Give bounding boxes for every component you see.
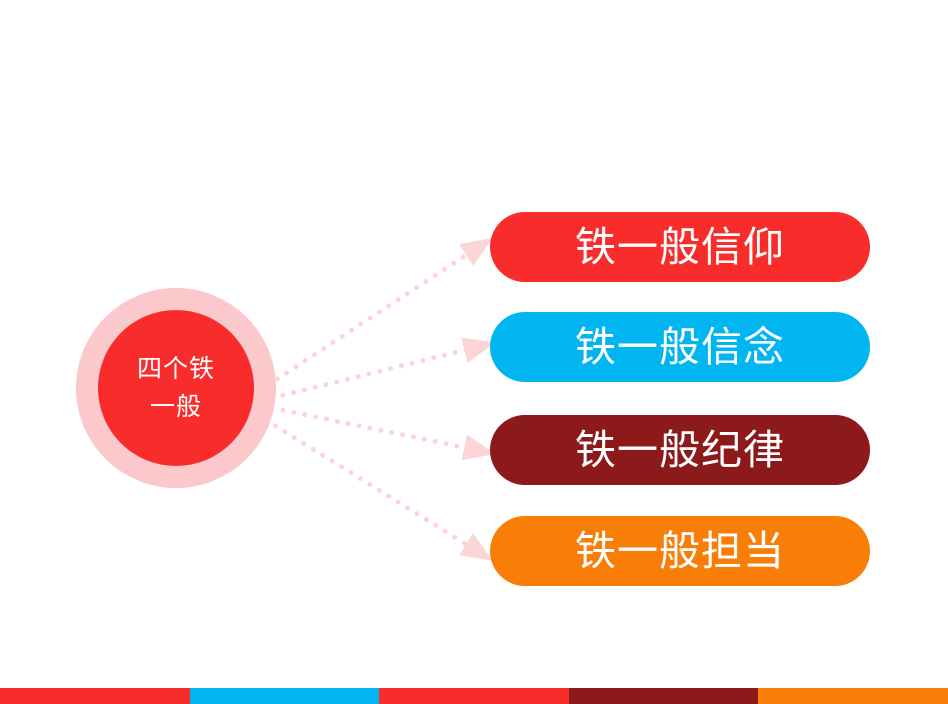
connector-line-3 bbox=[272, 408, 477, 450]
hub-core-circle: 四个铁 一般 bbox=[98, 310, 254, 466]
footer-segment-3 bbox=[379, 688, 569, 704]
item-pill-1-label: 铁一般信仰 bbox=[575, 225, 785, 269]
hub-label-line2: 一般 bbox=[150, 388, 202, 426]
footer-segment-5 bbox=[758, 688, 948, 704]
footer-segment-1 bbox=[0, 688, 190, 704]
item-pill-4-label: 铁一般担当 bbox=[575, 529, 785, 573]
footer-color-bar bbox=[0, 688, 948, 704]
item-pill-3-label: 铁一般纪律 bbox=[575, 428, 785, 472]
item-pill-4[interactable]: 铁一般担当 bbox=[490, 516, 870, 586]
connector-line-4 bbox=[266, 420, 477, 551]
hub-label-line1: 四个铁 bbox=[137, 350, 215, 388]
connector-line-2 bbox=[272, 347, 477, 398]
center-hub[interactable]: 四个铁 一般 bbox=[76, 288, 276, 488]
footer-segment-2 bbox=[190, 688, 380, 704]
connector-line-1 bbox=[268, 248, 477, 385]
item-pill-2-label: 铁一般信念 bbox=[575, 325, 785, 369]
item-pill-3[interactable]: 铁一般纪律 bbox=[490, 415, 870, 485]
item-pill-1[interactable]: 铁一般信仰 bbox=[490, 212, 870, 282]
slide-canvas: 四个铁 一般 铁一般信仰 铁一般信念 铁一般纪律 铁一般担当 bbox=[0, 0, 948, 704]
item-pill-2[interactable]: 铁一般信念 bbox=[490, 312, 870, 382]
footer-segment-4 bbox=[569, 688, 759, 704]
